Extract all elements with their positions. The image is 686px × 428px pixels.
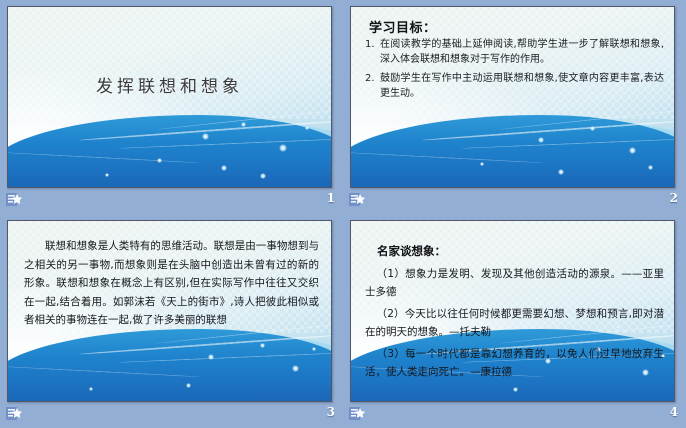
- slide-heading: 学习目标：: [369, 17, 437, 36]
- body-paragraph: 联想和想象是人类特有的思维活动。联想是由一事物想到与之相关的另一事物,而想象则是…: [24, 237, 319, 330]
- slide-cell-1[interactable]: 发挥联想和想象 1: [0, 0, 343, 214]
- slide-1-footer: 1: [0, 190, 343, 214]
- bookmark-star-icon: [348, 406, 366, 422]
- list-item: 2. 鼓励学生在写作中主动运用联想和想象,使文章内容更丰富,表达更生动。: [365, 71, 664, 101]
- bookmark-star-icon: [348, 192, 366, 208]
- slide-cell-3[interactable]: 联想和想象是人类特有的思维活动。联想是由一事物想到与之相关的另一事物,而想象则是…: [0, 214, 343, 428]
- bookmark-star-icon: [5, 406, 23, 422]
- page-title: 发挥联想和想象: [8, 72, 331, 97]
- slide-4[interactable]: 名家谈想象： （1）想象力是发明、发现及其他创造活动的源泉。——亚里士多德 （2…: [350, 220, 675, 402]
- list-item-label: 鼓励学生在写作中主动运用联想和想象,使文章内容更丰富,表达更生动。: [380, 73, 664, 99]
- slide-2[interactable]: 学习目标： 1. 在阅读教学的基础上延伸阅读,帮助学生进一步了解联想和想象,深入…: [350, 6, 675, 188]
- slide-3-footer: 3: [0, 404, 343, 428]
- list-item: （1）想象力是发明、发现及其他创造活动的源泉。——亚里士多德: [365, 265, 664, 301]
- slide-2-footer: 2: [343, 190, 686, 214]
- list-item: 1. 在阅读教学的基础上延伸阅读,帮助学生进一步了解联想和想象,深入体会联想和想…: [365, 37, 664, 67]
- slide-4-footer: 4: [343, 404, 686, 428]
- slide-3-content: 联想和想象是人类特有的思维活动。联想是由一事物想到与之相关的另一事物,而想象则是…: [8, 221, 331, 401]
- bookmark-star-icon: [5, 192, 23, 208]
- slide-page-number: 3: [327, 405, 335, 419]
- list-item-marker: 2.: [365, 71, 378, 86]
- slide-2-content: 学习目标： 1. 在阅读教学的基础上延伸阅读,帮助学生进一步了解联想和想象,深入…: [351, 7, 674, 187]
- list-item-label: 在阅读教学的基础上延伸阅读,帮助学生进一步了解联想和想象,深入体会联想和想象对于…: [380, 39, 664, 65]
- list-item: （2）今天比以往任何时候都更需要幻想、梦想和预言,即对潜在的明天的想象。—托夫勒: [365, 305, 664, 341]
- slide-page-number: 1: [327, 191, 335, 205]
- slide-cell-2[interactable]: 学习目标： 1. 在阅读教学的基础上延伸阅读,帮助学生进一步了解联想和想象,深入…: [343, 0, 686, 214]
- slide-thumbnail-grid: 发挥联想和想象 1: [0, 0, 686, 428]
- list-item: （3）每一个时代都是靠幻想养育的，以免人们过早地放弃生活，使人类走向死亡。—康拉…: [365, 345, 664, 381]
- slide-page-number: 4: [670, 405, 678, 419]
- slide-cell-4[interactable]: 名家谈想象： （1）想象力是发明、发现及其他创造活动的源泉。——亚里士多德 （2…: [343, 214, 686, 428]
- slide-heading: 名家谈想象：: [377, 243, 446, 259]
- slide-4-content: 名家谈想象： （1）想象力是发明、发现及其他创造活动的源泉。——亚里士多德 （2…: [351, 221, 674, 401]
- slide-1-content: 发挥联想和想象: [8, 7, 331, 187]
- list-item-marker: 1.: [365, 37, 378, 52]
- objectives-list: 1. 在阅读教学的基础上延伸阅读,帮助学生进一步了解联想和想象,深入体会联想和想…: [365, 37, 664, 105]
- slide-page-number: 2: [670, 191, 678, 205]
- slide-3[interactable]: 联想和想象是人类特有的思维活动。联想是由一事物想到与之相关的另一事物,而想象则是…: [7, 220, 332, 402]
- quotes-list: （1）想象力是发明、发现及其他创造活动的源泉。——亚里士多德 （2）今天比以往任…: [365, 265, 664, 385]
- slide-1[interactable]: 发挥联想和想象: [7, 6, 332, 188]
